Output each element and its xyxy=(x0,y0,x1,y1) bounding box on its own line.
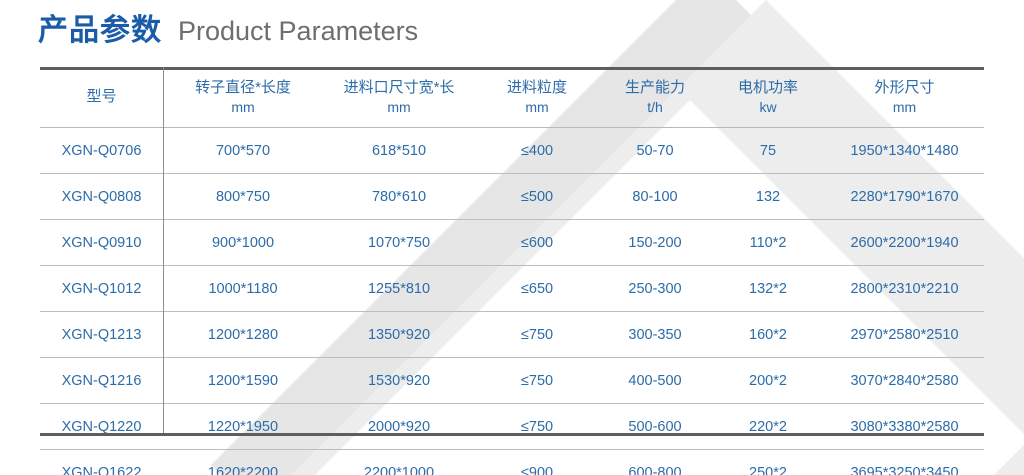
cell-capacity: 250-300 xyxy=(599,266,711,312)
table-row: XGN-Q12161200*15901530*920≤750400-500200… xyxy=(40,358,984,404)
cell-feed-opening: 618*510 xyxy=(323,128,475,174)
cell-power: 132*2 xyxy=(711,266,825,312)
cell-dimensions: 2970*2580*2510 xyxy=(825,312,984,358)
column-header-power-unit: kw xyxy=(711,98,825,116)
cell-power: 75 xyxy=(711,128,825,174)
column-header-feed-opening-unit: mm xyxy=(323,98,475,116)
cell-feed-opening: 2000*920 xyxy=(323,404,475,450)
cell-feed-size: ≤750 xyxy=(475,312,599,358)
cell-rotor: 1200*1280 xyxy=(163,312,323,358)
table-header-row: 型号 转子直径*长度 mm 进料口尺寸宽*长 mm 进料粒度 mm 生产能力 t… xyxy=(40,67,984,128)
table-row: XGN-Q0808800*750780*610≤50080-1001322280… xyxy=(40,174,984,220)
column-header-power: 电机功率 kw xyxy=(711,67,825,128)
column-header-rotor-unit: mm xyxy=(163,98,323,116)
table-row: XGN-Q16221620*22002200*1000≤900600-80025… xyxy=(40,450,984,475)
cell-capacity: 80-100 xyxy=(599,174,711,220)
column-header-capacity-unit: t/h xyxy=(599,98,711,116)
column-header-feed-opening-name: 进料口尺寸宽*长 xyxy=(344,79,455,96)
specifications-table: 型号 转子直径*长度 mm 进料口尺寸宽*长 mm 进料粒度 mm 生产能力 t… xyxy=(40,67,984,475)
cell-feed-size: ≤500 xyxy=(475,174,599,220)
cell-rotor: 1200*1590 xyxy=(163,358,323,404)
column-header-rotor-name: 转子直径*长度 xyxy=(195,79,291,96)
cell-dimensions: 2280*1790*1670 xyxy=(825,174,984,220)
column-header-power-name: 电机功率 xyxy=(738,79,798,96)
cell-rotor: 700*570 xyxy=(163,128,323,174)
column-header-feed-size-name: 进料粒度 xyxy=(507,79,567,96)
table-row: XGN-Q0706700*570618*510≤40050-70751950*1… xyxy=(40,128,984,174)
cell-model: XGN-Q1622 xyxy=(40,450,163,475)
cell-model: XGN-Q1213 xyxy=(40,312,163,358)
cell-capacity: 500-600 xyxy=(599,404,711,450)
cell-model: XGN-Q0706 xyxy=(40,128,163,174)
cell-feed-size: ≤650 xyxy=(475,266,599,312)
cell-feed-opening: 1530*920 xyxy=(323,358,475,404)
cell-model: XGN-Q1216 xyxy=(40,358,163,404)
cell-dimensions: 1950*1340*1480 xyxy=(825,128,984,174)
cell-capacity: 300-350 xyxy=(599,312,711,358)
page-title-chinese: 产品参数 xyxy=(38,16,162,46)
column-header-capacity-name: 生产能力 xyxy=(625,79,685,96)
cell-dimensions: 3070*2840*2580 xyxy=(825,358,984,404)
cell-power: 200*2 xyxy=(711,358,825,404)
cell-model: XGN-Q1012 xyxy=(40,266,163,312)
column-header-dimensions-unit: mm xyxy=(825,98,984,116)
cell-capacity: 50-70 xyxy=(599,128,711,174)
page-title: 产品参数 Product Parameters xyxy=(38,16,418,46)
column-header-feed-size: 进料粒度 mm xyxy=(475,67,599,128)
cell-power: 132 xyxy=(711,174,825,220)
cell-model: XGN-Q0808 xyxy=(40,174,163,220)
cell-capacity: 400-500 xyxy=(599,358,711,404)
column-header-rotor: 转子直径*长度 mm xyxy=(163,67,323,128)
column-header-model-name: 型号 xyxy=(86,88,116,105)
cell-dimensions: 2600*2200*1940 xyxy=(825,220,984,266)
cell-rotor: 1620*2200 xyxy=(163,450,323,475)
cell-feed-size: ≤750 xyxy=(475,358,599,404)
table-bottom-rule xyxy=(40,433,984,436)
column-header-dimensions: 外形尺寸 mm xyxy=(825,67,984,128)
cell-dimensions: 3695*3250*3450 xyxy=(825,450,984,475)
page-title-english: Product Parameters xyxy=(178,18,418,45)
cell-feed-opening: 780*610 xyxy=(323,174,475,220)
model-column-divider xyxy=(163,67,164,434)
cell-dimensions: 2800*2310*2210 xyxy=(825,266,984,312)
cell-rotor: 900*1000 xyxy=(163,220,323,266)
column-header-feed-opening: 进料口尺寸宽*长 mm xyxy=(323,67,475,128)
cell-feed-size: ≤600 xyxy=(475,220,599,266)
cell-capacity: 600-800 xyxy=(599,450,711,475)
cell-rotor: 1220*1950 xyxy=(163,404,323,450)
cell-power: 160*2 xyxy=(711,312,825,358)
cell-feed-opening: 1255*810 xyxy=(323,266,475,312)
cell-power: 220*2 xyxy=(711,404,825,450)
cell-feed-opening: 1070*750 xyxy=(323,220,475,266)
column-header-model: 型号 xyxy=(40,67,163,128)
column-header-dimensions-name: 外形尺寸 xyxy=(874,79,934,96)
cell-feed-size: ≤750 xyxy=(475,404,599,450)
cell-model: XGN-Q1220 xyxy=(40,404,163,450)
cell-rotor: 800*750 xyxy=(163,174,323,220)
table-row: XGN-Q10121000*11801255*810≤650250-300132… xyxy=(40,266,984,312)
cell-capacity: 150-200 xyxy=(599,220,711,266)
column-header-capacity: 生产能力 t/h xyxy=(599,67,711,128)
table-row: XGN-Q12131200*12801350*920≤750300-350160… xyxy=(40,312,984,358)
cell-power: 250*2 xyxy=(711,450,825,475)
cell-model: XGN-Q0910 xyxy=(40,220,163,266)
table-row: XGN-Q12201220*19502000*920≤750500-600220… xyxy=(40,404,984,450)
column-header-feed-size-unit: mm xyxy=(475,98,599,116)
product-parameters-page: 产品参数 Product Parameters 型号 转子直径*长度 mm 进料… xyxy=(0,0,1024,475)
cell-feed-opening: 2200*1000 xyxy=(323,450,475,475)
table-header: 型号 转子直径*长度 mm 进料口尺寸宽*长 mm 进料粒度 mm 生产能力 t… xyxy=(40,67,984,128)
cell-dimensions: 3080*3380*2580 xyxy=(825,404,984,450)
cell-power: 110*2 xyxy=(711,220,825,266)
table-row: XGN-Q0910900*10001070*750≤600150-200110*… xyxy=(40,220,984,266)
cell-feed-size: ≤900 xyxy=(475,450,599,475)
cell-feed-opening: 1350*920 xyxy=(323,312,475,358)
table-body: XGN-Q0706700*570618*510≤40050-70751950*1… xyxy=(40,128,984,475)
cell-feed-size: ≤400 xyxy=(475,128,599,174)
cell-rotor: 1000*1180 xyxy=(163,266,323,312)
